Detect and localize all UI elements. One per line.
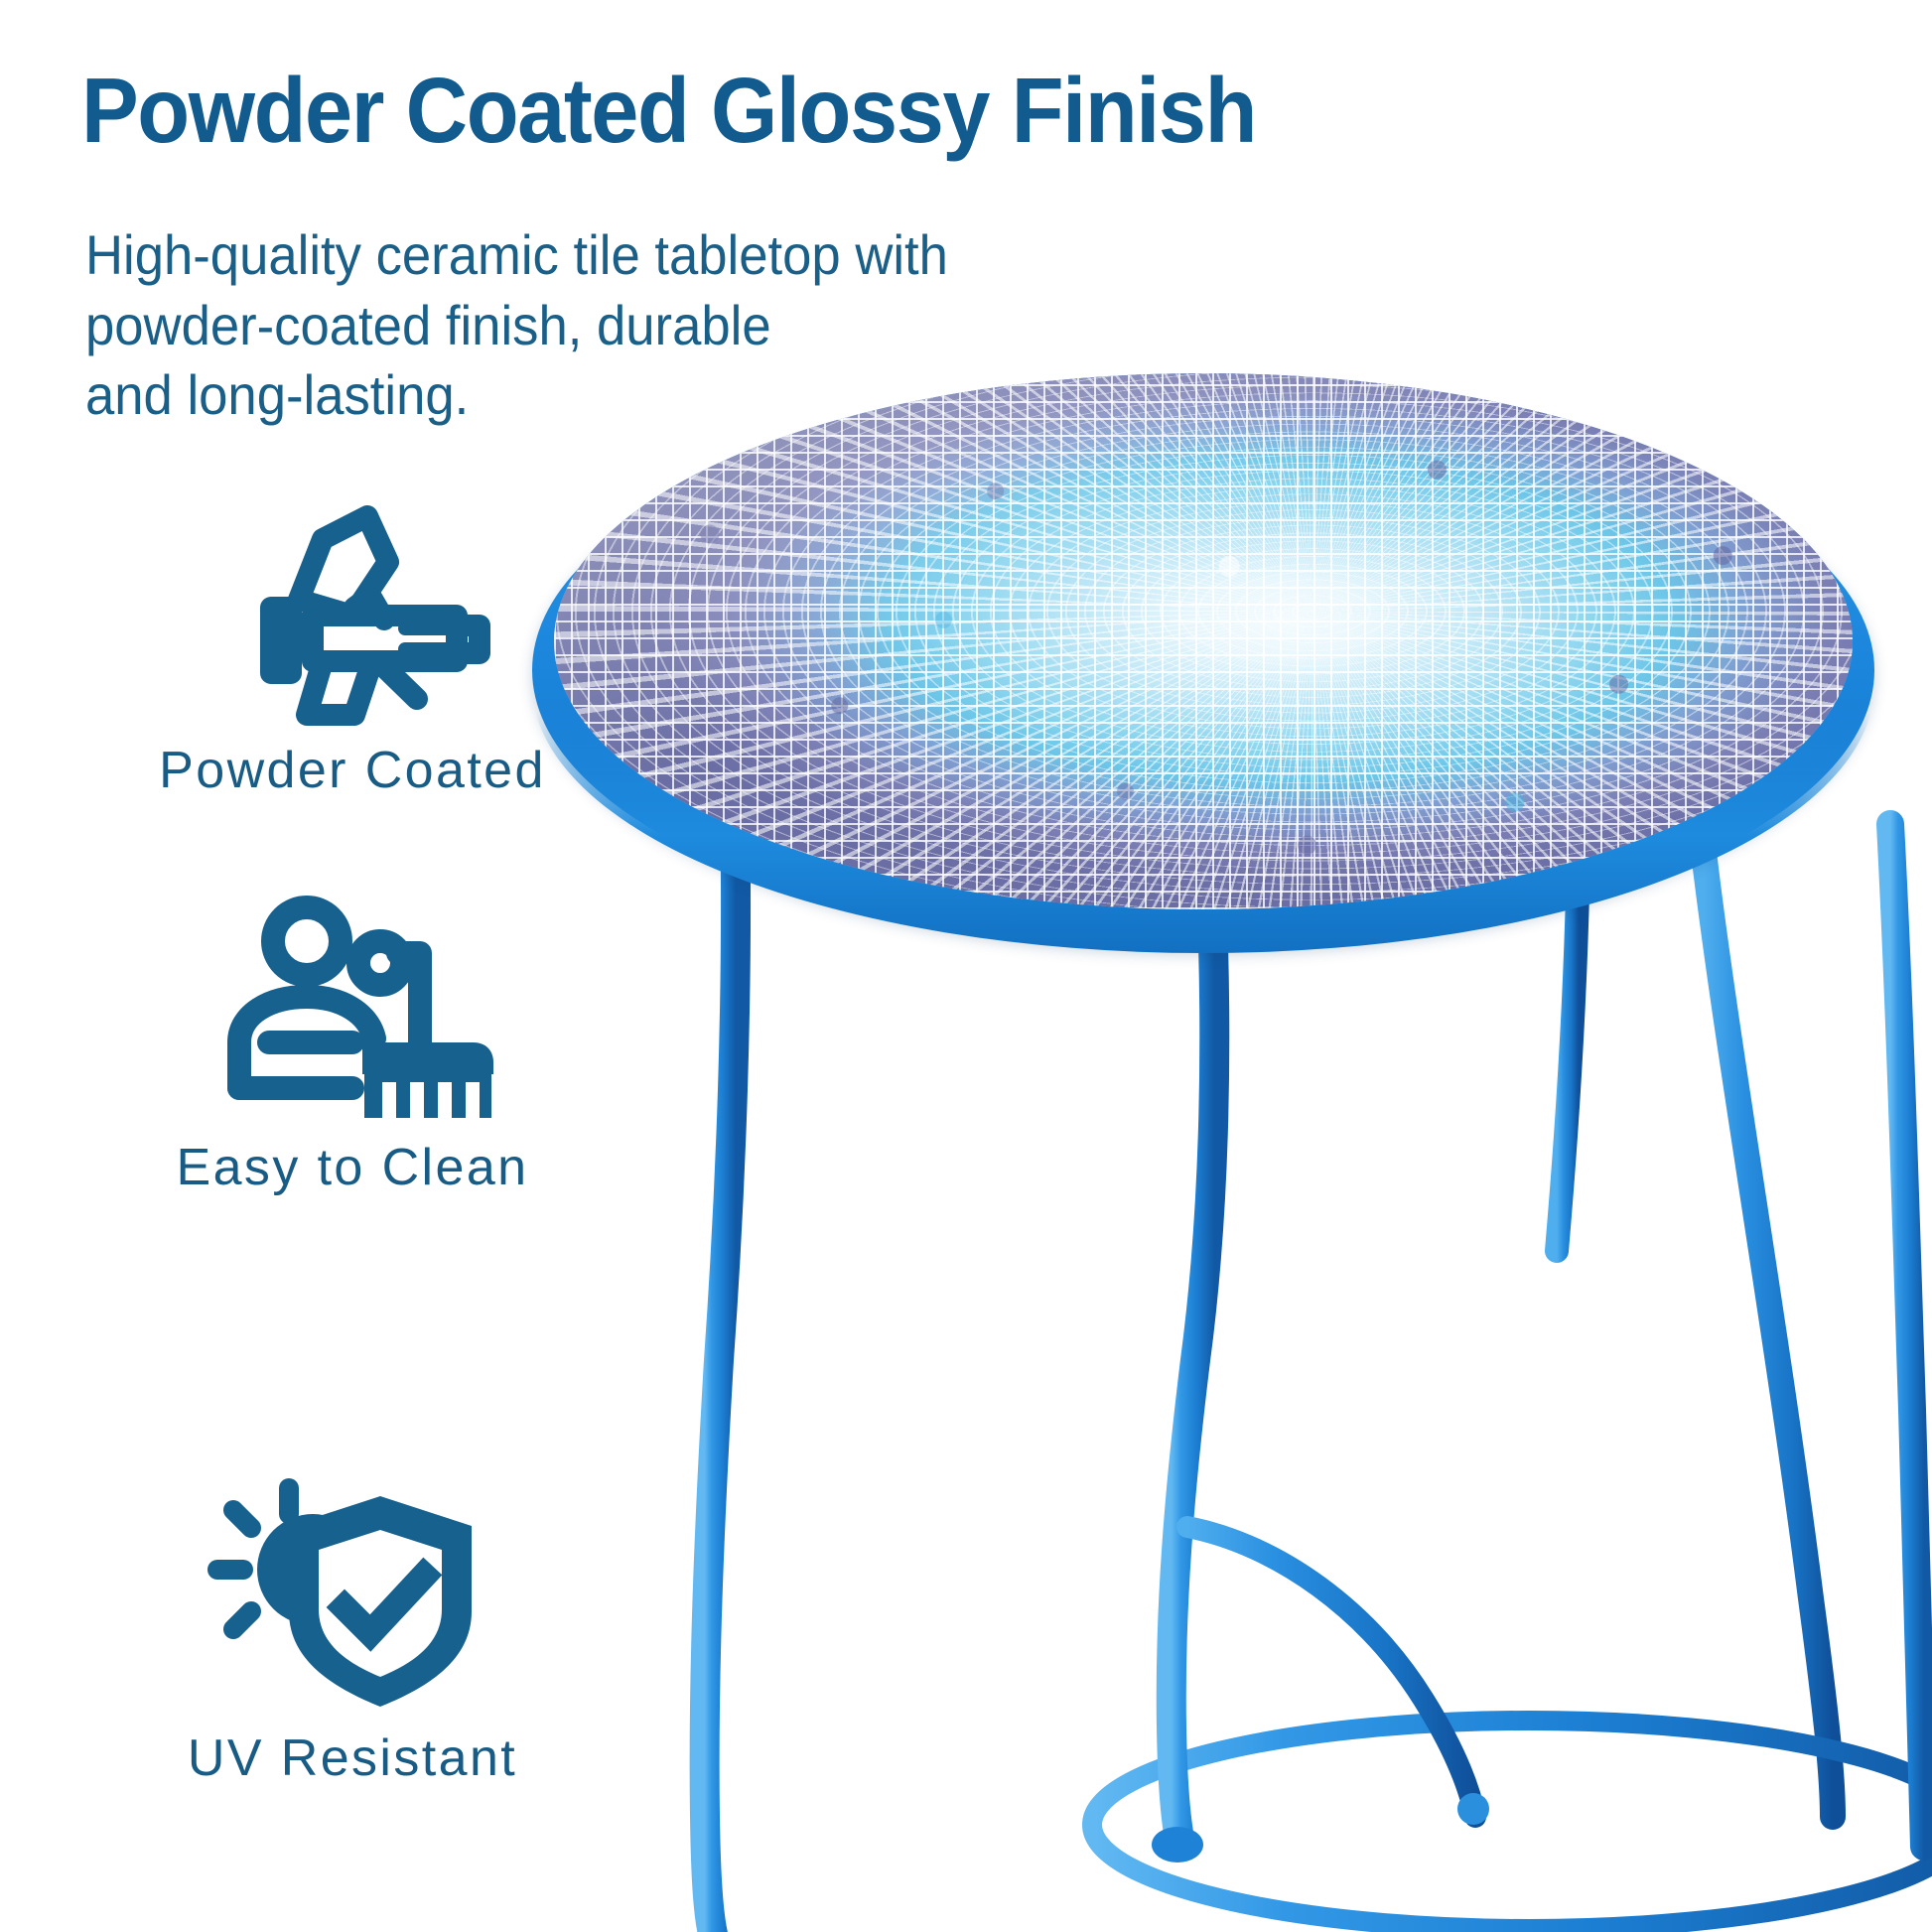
feature-label: Easy to Clean [119, 1138, 586, 1197]
mosaic-gloss-sheen [554, 373, 1853, 909]
product-feature-infographic: Powder Coated Glossy Finish High-quality… [0, 0, 1932, 1932]
table-leg-back-right [1704, 852, 1833, 1817]
table-foot-cap [1152, 1827, 1203, 1863]
mosaic-tile-surface [554, 373, 1853, 909]
feature-label: Powder Coated [119, 741, 586, 800]
cleaning-person-broom-icon [119, 894, 586, 1122]
page-title: Powder Coated Glossy Finish [81, 62, 1651, 160]
feature-powder-coated: Powder Coated [119, 496, 586, 800]
table-cross-brace [1187, 1527, 1475, 1817]
table-base-ring [1092, 1721, 1932, 1929]
description-line-2: powder-coated finish, durable [85, 291, 1112, 361]
spray-gun-icon [119, 496, 586, 725]
feature-easy-to-clean: Easy to Clean [119, 894, 586, 1197]
feature-label: UV Resistant [119, 1728, 586, 1788]
feature-uv-resistant: UV Resistant [119, 1474, 586, 1788]
table-top [524, 357, 1884, 953]
table-leg-front-left [705, 806, 736, 1932]
description-line-1: High-quality ceramic tile tabletop with [85, 220, 1112, 291]
sun-shield-check-icon [119, 1474, 586, 1713]
table-leg-right [1890, 824, 1924, 1847]
product-image [524, 357, 1932, 1932]
table-brace-joint [1457, 1793, 1489, 1825]
table-leg-front-center [1172, 846, 1215, 1839]
